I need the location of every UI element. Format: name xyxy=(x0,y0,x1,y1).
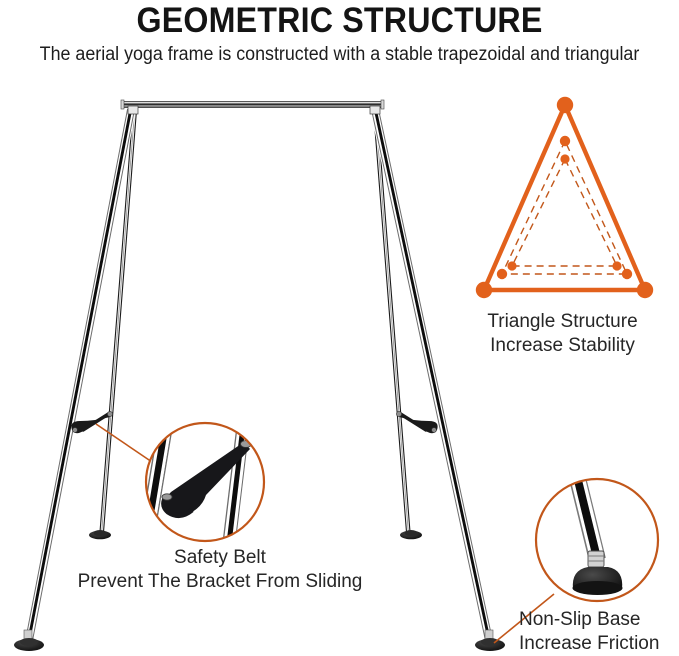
triangle-vertex-dot xyxy=(560,154,569,163)
non-slip-base-caption: Non-Slip Base Increase Friction xyxy=(519,608,679,655)
triangle-vertex-dot xyxy=(622,269,632,279)
triangle-vertex-dot xyxy=(476,282,492,298)
caption-line-1: Safety Belt xyxy=(35,546,405,570)
triangle-vertex-dot xyxy=(612,261,621,270)
triangle-structure-diagram xyxy=(476,97,653,298)
inner-dashed-triangle-2 xyxy=(512,159,617,266)
caption-line-2: Prevent The Bracket From Sliding xyxy=(35,570,405,594)
caption-line-2: Increase Friction xyxy=(519,632,679,656)
safety-belt-caption: Safety Belt Prevent The Bracket From Sli… xyxy=(35,546,405,593)
triangle-vertex-dot xyxy=(507,261,516,270)
safety-belt-callout[interactable] xyxy=(96,410,264,560)
triangle-vertex-dot xyxy=(637,282,653,298)
front-right-foot xyxy=(475,630,505,651)
front-left-foot xyxy=(14,630,44,651)
caption-line-2: Increase Stability xyxy=(446,334,679,358)
caption-line-1: Non-Slip Base xyxy=(519,608,679,632)
rear-right-foot xyxy=(400,530,422,539)
triangle-vertex-dot xyxy=(557,97,573,113)
caption-line-1: Triangle Structure xyxy=(446,310,679,334)
top-cross-bar xyxy=(121,100,384,114)
triangle-structure-caption: Triangle Structure Increase Stability xyxy=(446,310,679,357)
infographic-canvas: GEOMETRIC STRUCTURE The aerial yoga fram… xyxy=(0,0,679,656)
triangle-vertex-dot xyxy=(560,136,570,146)
rear-left-foot xyxy=(89,530,111,539)
triangle-vertex-dot xyxy=(497,269,507,279)
